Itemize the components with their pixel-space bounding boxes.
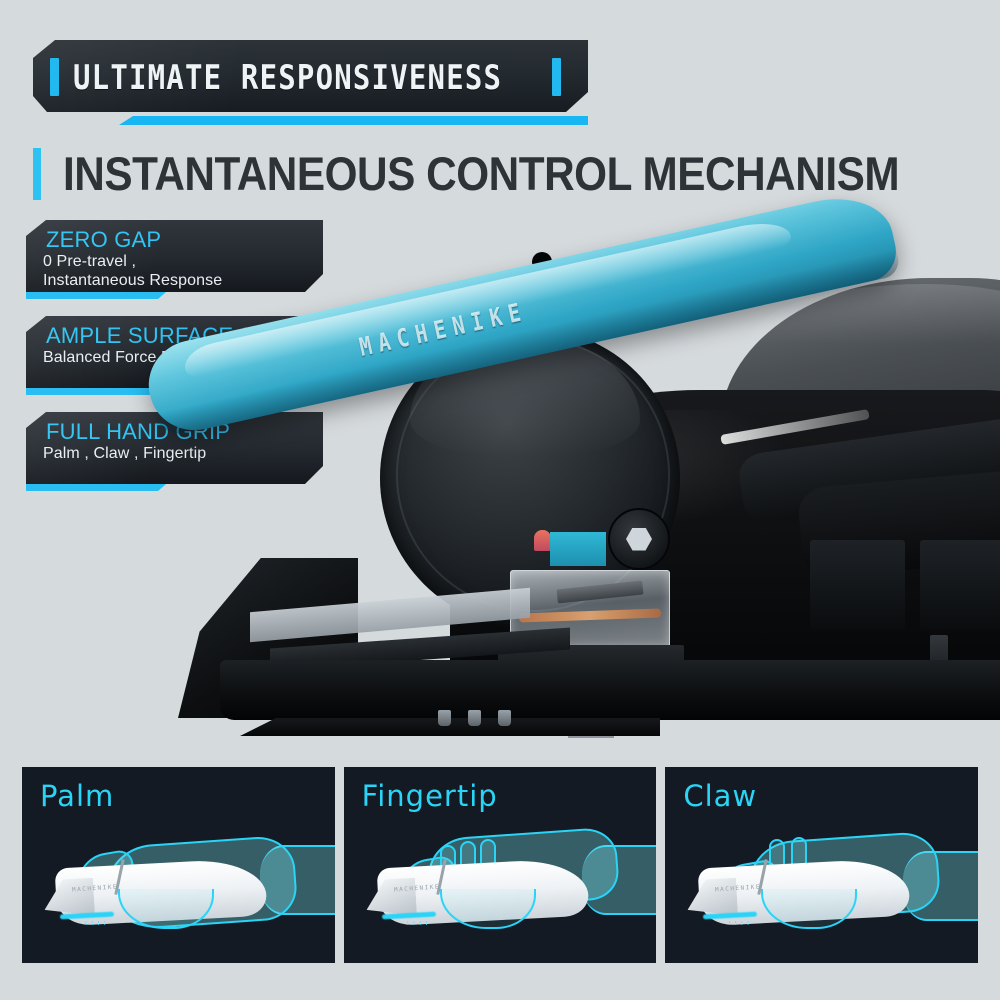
headline-text: INSTANTANEOUS CONTROL MECHANISM bbox=[63, 144, 899, 203]
cyan-tab bbox=[550, 532, 606, 566]
brand-logo-text: MACHENIKE bbox=[356, 296, 530, 362]
connector-pin bbox=[438, 710, 451, 726]
page-title: INSTANTANEOUS CONTROL MECHANISM bbox=[33, 146, 933, 202]
internal-block bbox=[810, 540, 905, 630]
internal-block bbox=[920, 540, 1000, 630]
grip-panel-claw: Claw MACHENIKE :::: bbox=[665, 767, 978, 963]
mouse-vent-dots: :::: bbox=[84, 919, 109, 927]
hand-grip-contour bbox=[761, 889, 857, 929]
grip-illustration: MACHENIKE :::: bbox=[665, 767, 978, 963]
banner-accent-left bbox=[50, 58, 59, 96]
banner: ULTIMATE RESPONSIVENESS bbox=[33, 40, 598, 140]
connector-pin bbox=[498, 710, 511, 726]
grip-panel-row: Palm MACHENIKE :::: Fingertip MACHENI bbox=[22, 767, 978, 963]
headline-accent-bar bbox=[33, 148, 41, 200]
grip-panel-palm: Palm MACHENIKE :::: bbox=[22, 767, 335, 963]
hex-socket-hub bbox=[608, 508, 670, 570]
mouse-vent-dots: :::: bbox=[406, 919, 431, 927]
banner-title: ULTIMATE RESPONSIVENESS bbox=[73, 53, 543, 100]
grip-panel-fingertip: Fingertip MACHENIKE :::: bbox=[344, 767, 657, 963]
grip-illustration: MACHENIKE :::: bbox=[344, 767, 657, 963]
connector-pin bbox=[468, 710, 481, 726]
switch-copper-leaf bbox=[519, 609, 661, 623]
indicator-dot bbox=[534, 530, 551, 551]
mouse-vent-dots: :::: bbox=[727, 919, 752, 927]
chassis-base bbox=[220, 660, 1000, 720]
banner-underline bbox=[119, 116, 588, 125]
hero-product-image: MACHENIKE bbox=[120, 240, 1000, 760]
hand-grip-contour bbox=[440, 889, 536, 929]
grip-illustration: MACHENIKE :::: bbox=[22, 767, 335, 963]
hex-nut-icon bbox=[626, 528, 652, 551]
banner-accent-right bbox=[552, 58, 561, 96]
switch-blade bbox=[557, 581, 644, 604]
